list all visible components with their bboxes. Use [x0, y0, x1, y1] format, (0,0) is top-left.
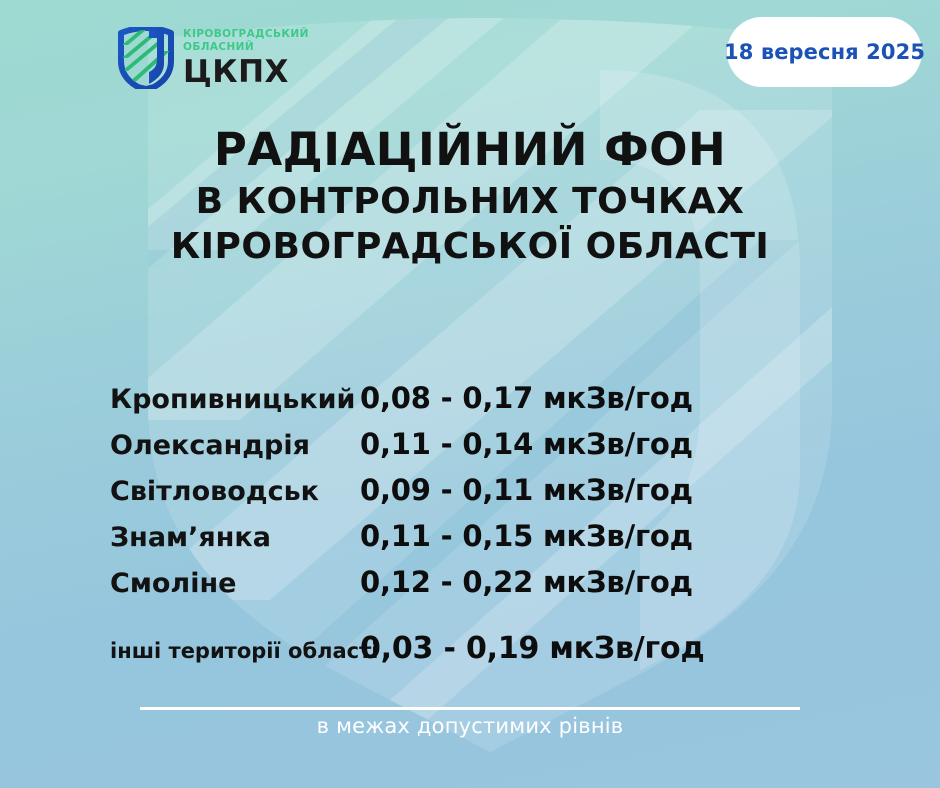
- reading-value-other: 0,03 - 0,19 мкЗв/год: [360, 631, 940, 666]
- organization-logo: КІРОВОГРАДСЬКИЙ ОБЛАСНИЙ ЦКПХ: [118, 27, 309, 89]
- table-row: Смоліне 0,12 - 0,22 мкЗв/год: [0, 565, 940, 611]
- date-badge-label: 18 вересня 2025: [724, 40, 925, 64]
- reading-location: Олександрія: [0, 430, 360, 461]
- footer-note: в межах допустимих рівнів: [0, 714, 940, 738]
- logo-subtitle-line-1: КІРОВОГРАДСЬКИЙ: [183, 28, 309, 41]
- reading-value: 0,08 - 0,17 мкЗв/год: [360, 381, 940, 415]
- table-row: Олександрія 0,11 - 0,14 мкЗв/год: [0, 427, 940, 473]
- readings-table: Кропивницький 0,08 - 0,17 мкЗв/год Олекс…: [0, 381, 940, 675]
- shield-logo-icon: [118, 27, 174, 89]
- reading-value: 0,09 - 0,11 мкЗв/год: [360, 473, 940, 507]
- page-title-line-1: РАДІАЦІЙНИЙ ФОН: [0, 124, 940, 175]
- logo-wordmark: КІРОВОГРАДСЬКИЙ ОБЛАСНИЙ ЦКПХ: [183, 28, 309, 89]
- table-row-other-territories: інші території області 0,03 - 0,19 мкЗв/…: [0, 631, 940, 675]
- poster-header: КІРОВОГРАДСЬКИЙ ОБЛАСНИЙ ЦКПХ 18 вересня…: [0, 0, 940, 110]
- reading-value: 0,11 - 0,14 мкЗв/год: [360, 427, 940, 461]
- reading-location: Світловодськ: [0, 476, 360, 507]
- footer-divider: [140, 707, 800, 710]
- table-row: Світловодськ 0,09 - 0,11 мкЗв/год: [0, 473, 940, 519]
- reading-location-other: інші території області: [0, 639, 360, 663]
- reading-location: Кропивницький: [0, 384, 360, 415]
- logo-acronym: ЦКПХ: [183, 56, 309, 89]
- page-title-line-2: В КОНТРОЛЬНИХ ТОЧКАХ: [0, 181, 940, 222]
- reading-location: Смоліне: [0, 568, 360, 599]
- table-row: Кропивницький 0,08 - 0,17 мкЗв/год: [0, 381, 940, 427]
- date-badge: 18 вересня 2025: [727, 17, 922, 87]
- page-title: РАДІАЦІЙНИЙ ФОН В КОНТРОЛЬНИХ ТОЧКАХ КІР…: [0, 124, 940, 267]
- page-title-line-3: КІРОВОГРАДСЬКОЇ ОБЛАСТІ: [0, 226, 940, 267]
- reading-value: 0,12 - 0,22 мкЗв/год: [360, 565, 940, 599]
- reading-location: Знам’янка: [0, 522, 360, 553]
- table-row: Знам’янка 0,11 - 0,15 мкЗв/год: [0, 519, 940, 565]
- logo-subtitle-line-2: ОБЛАСНИЙ: [183, 41, 309, 54]
- reading-value: 0,11 - 0,15 мкЗв/год: [360, 519, 940, 553]
- radiation-background-poster: КІРОВОГРАДСЬКИЙ ОБЛАСНИЙ ЦКПХ 18 вересня…: [0, 0, 940, 788]
